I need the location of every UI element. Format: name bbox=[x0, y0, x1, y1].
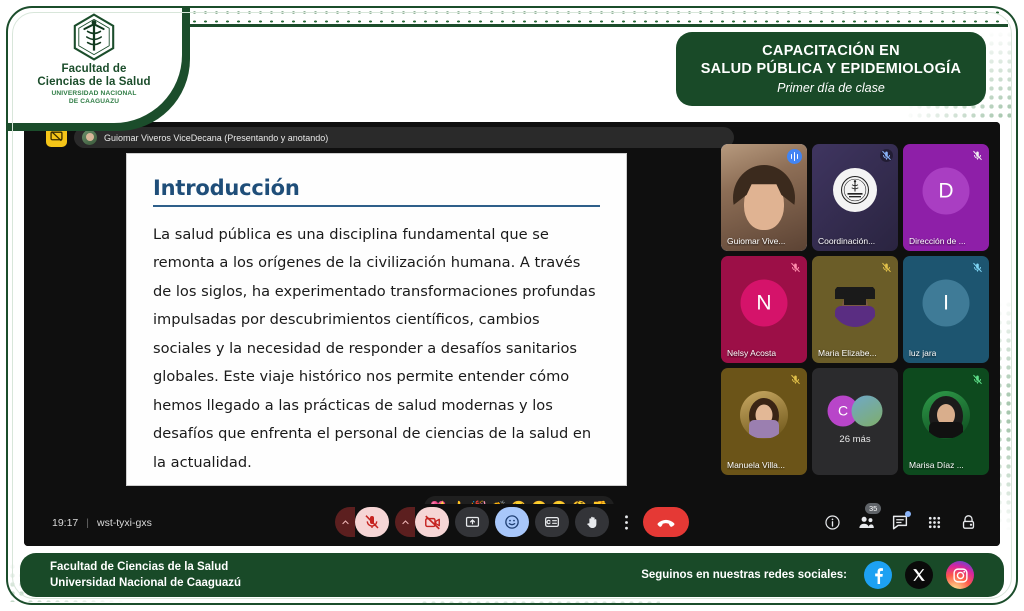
mic-muted-indicator bbox=[971, 373, 984, 386]
emoji-icon bbox=[504, 514, 520, 530]
participant-photo-avatar bbox=[831, 279, 879, 327]
microphone-toggle-button[interactable] bbox=[355, 507, 389, 537]
present-icon bbox=[465, 515, 480, 530]
mic-muted-indicator bbox=[971, 261, 984, 274]
caduceus-hexagon-icon bbox=[70, 12, 118, 62]
participant-tile[interactable]: DDirección de ... bbox=[903, 144, 989, 251]
participant-name-label: Dirección de ... bbox=[909, 236, 966, 246]
raise-hand-button[interactable] bbox=[575, 507, 609, 537]
logo-line-3: UNIVERSIDAD NACIONAL bbox=[51, 90, 136, 97]
logo-line-1: Facultad de bbox=[61, 63, 126, 75]
header-rule bbox=[178, 24, 1008, 27]
captions-toggle-button[interactable] bbox=[535, 507, 569, 537]
meet-right-tools: 35 bbox=[822, 512, 978, 532]
show-everyone-button[interactable]: 35 bbox=[856, 512, 876, 532]
participant-tile[interactable]: Marisa Díaz ... bbox=[903, 368, 989, 475]
participant-name-label: Nelsy Acosta bbox=[727, 348, 776, 358]
reactions-button[interactable] bbox=[495, 507, 529, 537]
shared-slide: Introducción La salud pública es una dis… bbox=[126, 153, 627, 486]
meeting-info-text: 19:17 | wst-tyxi-gxs bbox=[52, 517, 152, 529]
info-icon bbox=[824, 514, 841, 531]
meet-bottom-bar: 19:17 | wst-tyxi-gxs bbox=[24, 504, 1000, 546]
slide-title: Introducción bbox=[153, 176, 600, 200]
slide-title-underline bbox=[153, 205, 600, 207]
participant-tile[interactable]: Manuela Villa... bbox=[721, 368, 807, 475]
seal-icon bbox=[840, 175, 870, 205]
x-icon[interactable] bbox=[905, 561, 933, 589]
university-logo-badge: Facultad de Ciencias de la Salud UNIVERS… bbox=[6, 6, 190, 131]
activities-button[interactable] bbox=[924, 512, 944, 532]
dotted-band-decoration bbox=[178, 6, 1008, 24]
mic-off-icon bbox=[881, 262, 892, 273]
kebab-menu-icon bbox=[624, 514, 629, 531]
present-screen-button[interactable] bbox=[455, 507, 489, 537]
presenter-avatar bbox=[82, 130, 97, 145]
captions-icon bbox=[544, 514, 560, 530]
slide-body-text: La salud pública es una disciplina funda… bbox=[153, 221, 600, 478]
logo-line-2: Ciencias de la Salud bbox=[37, 76, 150, 88]
chat-unread-dot bbox=[905, 511, 911, 517]
meeting-clock: 19:17 bbox=[52, 517, 78, 529]
presenter-status-bar: Guiomar Viveros ViceDecana (Presentando … bbox=[74, 127, 734, 148]
hand-icon bbox=[585, 515, 600, 530]
google-meet-window: Guiomar Viveros ViceDecana (Presentando … bbox=[24, 122, 1000, 546]
participant-initial-avatar: I bbox=[923, 280, 970, 327]
meet-stage: Guiomar Viveros ViceDecana (Presentando … bbox=[38, 122, 1000, 504]
chevron-up-icon bbox=[341, 518, 350, 527]
mic-muted-indicator bbox=[880, 261, 893, 274]
social-label: Seguinos en nuestras redes sociales: bbox=[641, 569, 847, 581]
participant-tile[interactable]: Coordinación... bbox=[812, 144, 898, 251]
organization-logo bbox=[833, 168, 877, 212]
participant-name-label: luz jara bbox=[909, 348, 936, 358]
footer-line-1: Facultad de Ciencias de la Salud bbox=[50, 559, 580, 575]
logo-line-4: DE CAAGUAZU bbox=[69, 98, 119, 105]
mic-off-icon bbox=[881, 150, 892, 161]
more-participants-avatars: C bbox=[828, 395, 883, 426]
participant-tile[interactable]: NNelsy Acosta bbox=[721, 256, 807, 363]
host-controls-button[interactable] bbox=[958, 512, 978, 532]
speaking-indicator bbox=[787, 149, 802, 164]
chat-with-everyone-button[interactable] bbox=[890, 512, 910, 532]
participant-tile[interactable]: Iluz jara bbox=[903, 256, 989, 363]
mic-off-icon bbox=[972, 262, 983, 273]
participant-name-label: Marisa Díaz ... bbox=[909, 460, 964, 470]
footer-social-bar: Seguinos en nuestras redes sociales: bbox=[580, 553, 1004, 597]
chevron-up-icon bbox=[401, 518, 410, 527]
grid-icon bbox=[926, 514, 943, 531]
camera-off-icon bbox=[424, 514, 441, 531]
participant-initial-avatar: N bbox=[741, 280, 788, 327]
presenter-label: Guiomar Viveros ViceDecana (Presentando … bbox=[104, 133, 328, 143]
mic-off-icon bbox=[790, 374, 801, 385]
participant-name-label: Coordinación... bbox=[818, 236, 875, 246]
facebook-icon[interactable] bbox=[864, 561, 892, 589]
camera-toggle-button[interactable] bbox=[415, 507, 449, 537]
facebook-glyph bbox=[870, 567, 887, 584]
participant-tile[interactable]: C26 más bbox=[812, 368, 898, 475]
meeting-separator: | bbox=[86, 517, 89, 529]
leave-call-button[interactable] bbox=[643, 507, 689, 537]
slide-frame: Facultad de Ciencias de la Salud UNIVERS… bbox=[0, 0, 1024, 611]
participant-count-badge: 35 bbox=[865, 503, 881, 514]
mic-muted-indicator bbox=[789, 261, 802, 274]
mic-muted-indicator bbox=[880, 149, 893, 162]
meeting-details-button[interactable] bbox=[822, 512, 842, 532]
present-stop-icon bbox=[50, 130, 63, 143]
more-participants-label: 26 más bbox=[839, 434, 870, 445]
meeting-code: wst-tyxi-gxs bbox=[97, 517, 152, 529]
instagram-glyph bbox=[952, 567, 969, 584]
participant-tiles-grid: Guiomar Vive...Coordinación...DDirección… bbox=[721, 144, 991, 475]
more-options-button[interactable] bbox=[615, 507, 637, 537]
participant-photo-avatar bbox=[922, 391, 970, 439]
people-icon bbox=[857, 513, 876, 532]
participant-initial-avatar: D bbox=[923, 168, 970, 215]
instagram-icon[interactable] bbox=[946, 561, 974, 589]
participant-photo-avatar bbox=[740, 391, 788, 439]
mic-options-button[interactable] bbox=[335, 507, 355, 537]
hangup-icon bbox=[656, 512, 676, 532]
mic-muted-indicator bbox=[789, 373, 802, 386]
camera-options-button[interactable] bbox=[395, 507, 415, 537]
participant-name-label: Guiomar Vive... bbox=[727, 236, 785, 246]
title-subtitle: Primer día de clase bbox=[777, 81, 885, 96]
title-line-1: CAPACITACIÓN EN bbox=[762, 42, 900, 60]
participant-tile[interactable]: Guiomar Vive... bbox=[721, 144, 807, 251]
mic-muted-indicator bbox=[971, 149, 984, 162]
footer-line-2: Universidad Nacional de Caaguazú bbox=[50, 575, 580, 591]
presentation-title-banner: CAPACITACIÓN EN SALUD PÚBLICA Y EPIDEMIO… bbox=[676, 32, 986, 106]
participant-name-label: Maria Elizabe... bbox=[818, 348, 877, 358]
x-glyph bbox=[912, 568, 926, 582]
mic-off-icon bbox=[972, 374, 983, 385]
more-avatar-photo bbox=[852, 395, 883, 426]
mic-off-icon bbox=[972, 150, 983, 161]
title-line-2: SALUD PÚBLICA Y EPIDEMIOLOGÍA bbox=[701, 60, 962, 78]
meet-controls bbox=[335, 507, 689, 537]
participant-name-label: Manuela Villa... bbox=[727, 460, 785, 470]
mic-off-icon bbox=[364, 514, 380, 530]
participant-tile[interactable]: Maria Elizabe... bbox=[812, 256, 898, 363]
lock-icon bbox=[960, 514, 977, 531]
footer-faculty-info: Facultad de Ciencias de la Salud Univers… bbox=[20, 553, 580, 597]
mic-off-icon bbox=[790, 262, 801, 273]
